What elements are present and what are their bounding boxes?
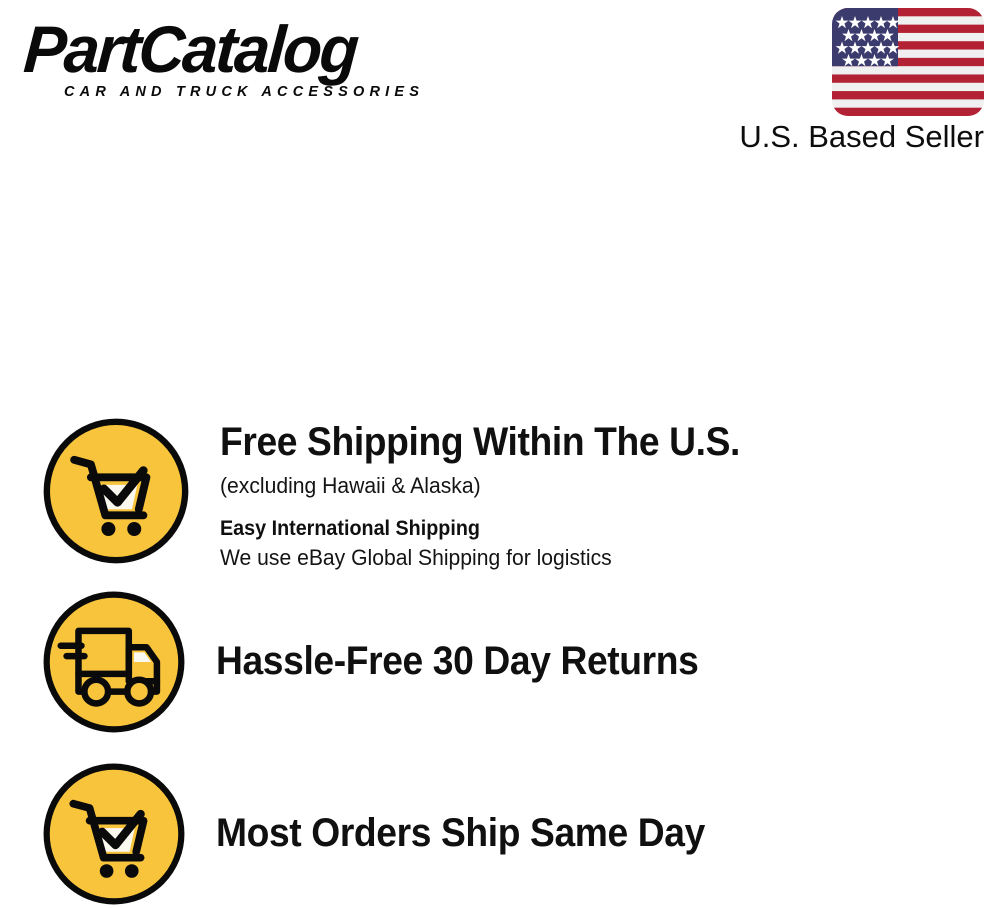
feature-item-returns: Hassle-Free 30 Day Returns: [40, 588, 735, 736]
feature-text-block: Free Shipping Within The U.S. (excluding…: [220, 415, 779, 573]
feature-text-block: Hassle-Free 30 Day Returns: [216, 640, 735, 683]
feature-subtext-logistics: We use eBay Global Shipping for logistic…: [220, 544, 757, 573]
shopping-cart-check-icon: [40, 760, 188, 908]
shopping-cart-check-icon: [40, 415, 192, 567]
brand-logo[interactable]: PartCatalog CAR AND TRUCK ACCESSORIES: [24, 18, 494, 100]
delivery-truck-icon: [40, 588, 188, 736]
feature-heading: Free Shipping Within The U.S.: [220, 421, 740, 464]
us-based-seller-label: U.S. Based Seller: [716, 120, 984, 154]
page-header: PartCatalog CAR AND TRUCK ACCESSORIES: [0, 0, 1000, 170]
feature-heading: Hassle-Free 30 Day Returns: [216, 640, 698, 683]
brand-wordmark: PartCatalog: [22, 18, 482, 81]
feature-text-block: Most Orders Ship Same Day: [216, 812, 742, 855]
feature-item-same-day-ship: Most Orders Ship Same Day: [40, 760, 742, 908]
brand-tagline: CAR AND TRUCK ACCESSORIES: [64, 84, 494, 100]
feature-subheading-international: Easy International Shipping: [220, 515, 746, 542]
feature-subtext-exclusions: (excluding Hawaii & Alaska): [220, 472, 757, 501]
us-based-seller-badge: U.S. Based Seller: [716, 8, 986, 154]
feature-item-free-shipping: Free Shipping Within The U.S. (excluding…: [40, 415, 779, 573]
us-flag-icon: [832, 8, 984, 116]
feature-heading: Most Orders Ship Same Day: [216, 812, 705, 855]
